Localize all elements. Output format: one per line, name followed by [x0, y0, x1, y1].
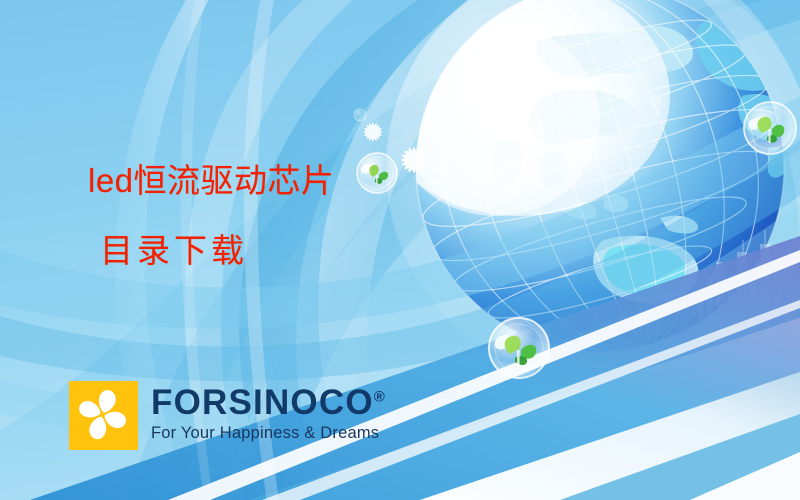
- brand-name-text: FORSINOCO: [151, 383, 374, 422]
- slide-headline: led恒流驱动芯片 目录下载: [88, 163, 335, 270]
- brand-tagline: For Your Happiness & Dreams: [151, 424, 385, 443]
- brand-logo-text: FORSINOCO® For Your Happiness & Dreams: [151, 381, 385, 443]
- city-skyline-icon: [690, 230, 800, 336]
- forsinoco-logo-mark-icon: [69, 381, 138, 450]
- sparkle-icon: [364, 123, 427, 173]
- registered-trademark-icon: ®: [374, 388, 385, 405]
- headline-line-2: 目录下载: [100, 233, 335, 270]
- diagonal-band-icon: [30, 236, 800, 500]
- bubble-icon: [354, 102, 796, 378]
- globe-icon: [370, 0, 800, 388]
- slide-canvas: led恒流驱动芯片 目录下载 FORSINOCO® For Your Happi…: [0, 0, 800, 500]
- brand-name: FORSINOCO®: [151, 385, 385, 420]
- headline-line-1: led恒流驱动芯片: [88, 163, 335, 200]
- brand-logo: FORSINOCO® For Your Happiness & Dreams: [69, 381, 385, 450]
